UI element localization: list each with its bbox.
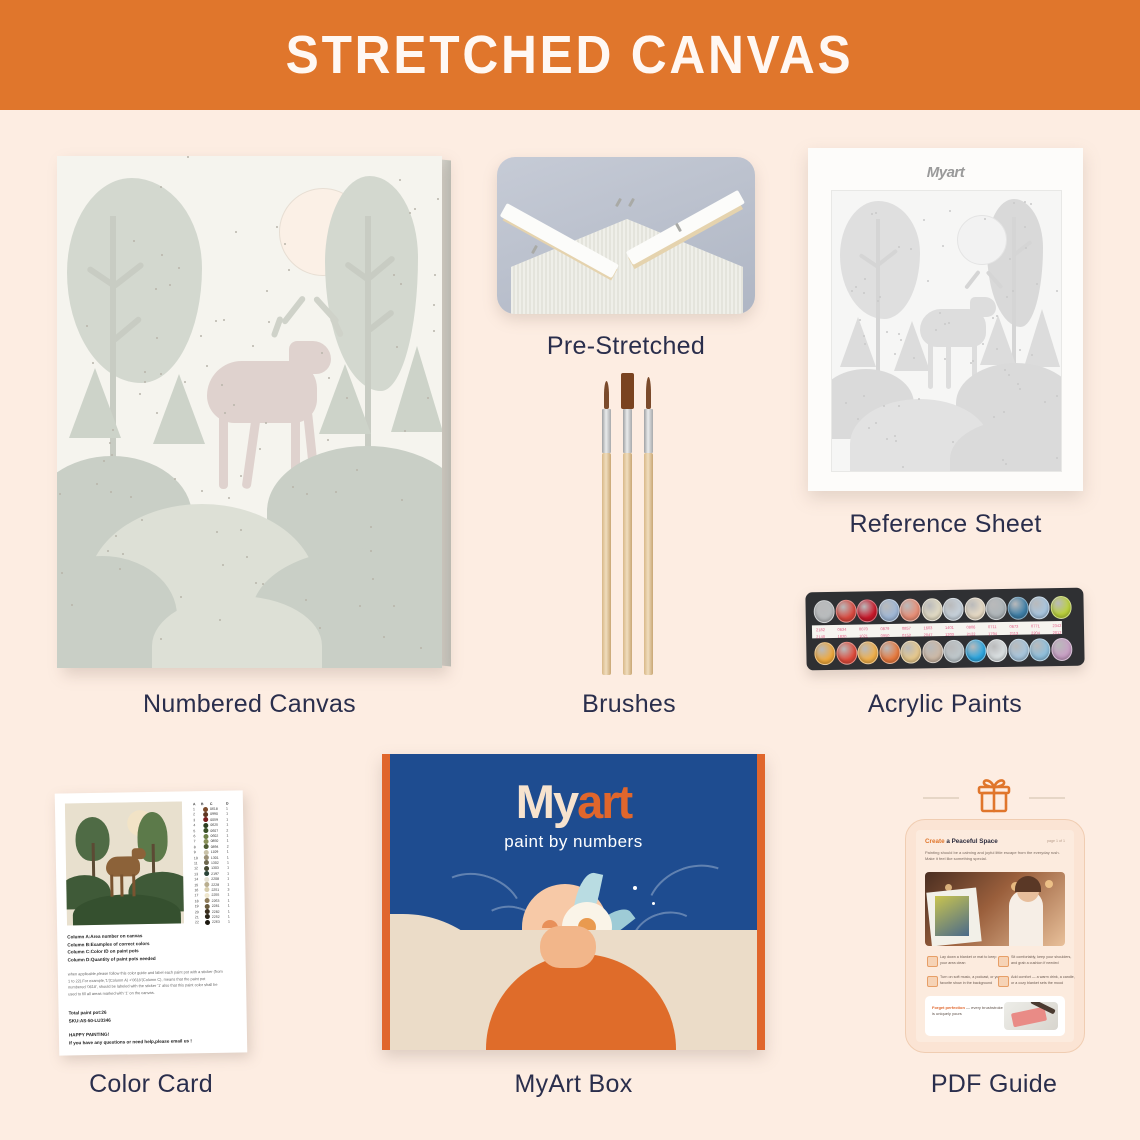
- color-card-image: A B C D 10618120990130059140625150607260…: [55, 790, 248, 1055]
- paint-number-mark: [288, 269, 290, 271]
- paint-number-mark: [178, 267, 180, 269]
- paint-pot-id: 2342: [1052, 623, 1061, 628]
- paint-number-mark: [144, 381, 146, 383]
- reference-sheet-image: Myart: [808, 148, 1083, 491]
- paint-pot: [985, 597, 1006, 620]
- paint-number-mark: [399, 179, 401, 181]
- canvas-face: [57, 156, 442, 668]
- myart-box-image: Myart paint by numbers: [382, 754, 765, 1050]
- color-card-sku: SKU:AS-50-LU3346: [69, 1017, 111, 1025]
- canvas-pine: [319, 364, 371, 434]
- paint-number-mark: [855, 286, 857, 288]
- paint-number-mark: [224, 412, 226, 414]
- paint-pot-id: 2012: [1053, 630, 1062, 635]
- paint-number-mark: [144, 371, 146, 373]
- paint-number-mark: [401, 499, 403, 501]
- paint-number-mark: [923, 219, 925, 221]
- paint-number-mark: [996, 315, 998, 317]
- paint-pot: [856, 599, 877, 622]
- paint-number-mark: [110, 491, 112, 493]
- paint-pot-row-bottom: 2140182010210950015220471203212217942113…: [805, 588, 1083, 593]
- paint-number-mark: [948, 322, 950, 324]
- paint-pot: [813, 600, 834, 623]
- paint-number-mark: [414, 208, 416, 210]
- paint-pot-id: 2122: [967, 631, 976, 636]
- paint-number-mark: [265, 422, 267, 424]
- color-card-legend: Column A:Area number on canvas Column B:…: [67, 932, 156, 964]
- callout-image: [1004, 1002, 1058, 1030]
- paint-number-mark: [233, 404, 235, 406]
- color-card-total: Total paint pot:26: [68, 1009, 106, 1017]
- numbered-canvas-image: [57, 156, 442, 668]
- paint-pot-id: 2204: [1031, 630, 1040, 635]
- paint-number-mark: [111, 454, 113, 456]
- color-card-happy: HAPPY PAINTING!: [69, 1031, 109, 1039]
- paint-pot: [986, 639, 1007, 662]
- ref-moon: [957, 215, 1007, 265]
- paint-number-mark: [944, 323, 946, 325]
- canvas-deer-leg: [219, 411, 228, 489]
- brushes-image: [590, 385, 670, 675]
- paint-number-mark: [306, 493, 308, 495]
- ref-pine: [1024, 309, 1060, 367]
- paint-number-mark: [228, 497, 230, 499]
- paint-number-mark: [404, 430, 406, 432]
- neck-shape: [540, 926, 596, 968]
- paint-pot-id: 2047: [924, 632, 933, 637]
- callout-text: Forget perfection — every brushstroke is…: [932, 1005, 1004, 1017]
- paint-pot-id: 0673: [1009, 624, 1018, 629]
- paint-number-mark: [319, 627, 321, 629]
- paint-number-mark: [1017, 383, 1019, 385]
- cc-deer-head: [132, 848, 146, 859]
- paint-pot: [922, 640, 943, 663]
- tip-icon: [998, 976, 1009, 987]
- color-card-contact: If you have any questions or need help,p…: [69, 1037, 192, 1047]
- paint-pot: [943, 640, 964, 663]
- pdf-guide-card: Create a Peaceful Space page 1 of 1 Pain…: [905, 819, 1085, 1053]
- paint-pot-id: 0879: [880, 626, 889, 631]
- ref-deer-antler: [964, 270, 981, 290]
- paint-number-mark: [427, 397, 429, 399]
- paint-number-mark: [112, 429, 114, 431]
- paint-number-mark: [115, 535, 117, 537]
- paint-pot-id: 1021: [859, 633, 868, 638]
- callout-highlight: Forget perfection: [932, 1005, 965, 1010]
- paint-pot-id: 0806: [966, 624, 975, 629]
- paint-pot: [1029, 638, 1050, 661]
- paint-number-mark: [1013, 202, 1015, 204]
- paint-pot-id: 1794: [988, 631, 997, 636]
- reference-sheet-logo: Myart: [808, 164, 1083, 181]
- paint-number-mark: [107, 550, 109, 552]
- paint-pot-id: 1820: [838, 634, 847, 639]
- tip-text: Lay down a blanket or mat to keep your a…: [940, 955, 1004, 966]
- reference-sheet-artwork: [831, 190, 1062, 472]
- paint-pot-id: 2113: [1010, 631, 1019, 636]
- paint-number-mark: [86, 325, 88, 327]
- pdf-title-rest: a Peaceful Space: [945, 838, 998, 845]
- caption-numbered-canvas: Numbered Canvas: [57, 690, 442, 719]
- paint-pot-id: 0070: [859, 626, 868, 631]
- staple-icon: [615, 198, 622, 207]
- paint-number-mark: [161, 254, 163, 256]
- paint-pot-id: 1203: [945, 632, 954, 637]
- paint-pot: [1007, 597, 1028, 620]
- box-logo: Myart: [390, 774, 757, 829]
- caption-pdf-guide: PDF Guide: [880, 1070, 1108, 1099]
- color-card-table: A B C D 10618120990130059140625150607260…: [193, 800, 239, 925]
- ref-pine: [840, 317, 876, 367]
- cc-deer-leg: [132, 874, 135, 896]
- color-card-paragraph: when applicable,please follow this color…: [68, 969, 223, 998]
- paint-number-mark: [393, 274, 395, 276]
- paint-number-mark: [276, 226, 278, 228]
- paint-number-mark: [1024, 226, 1026, 228]
- tip-text: Add comfort — a warm drink, a candle, or…: [1011, 975, 1075, 986]
- divider-right: [1029, 797, 1065, 799]
- paint-number-mark: [886, 438, 888, 440]
- pre-stretched-image: [497, 157, 755, 314]
- acrylic-paints-image: 2182063400700879085716031401080607110673…: [805, 588, 1084, 671]
- paint-number-mark: [180, 596, 182, 598]
- paint-pot-id: 1603: [923, 625, 932, 630]
- paint-number-mark: [871, 213, 873, 215]
- tip-text: Sit comfortably, keep your shoulders, an…: [1011, 955, 1075, 966]
- pdf-title-highlight: Create: [925, 838, 945, 845]
- paint-number-mark: [383, 636, 385, 638]
- paint-number-mark: [246, 556, 248, 558]
- paint-number-mark: [927, 280, 929, 282]
- sparkle-dot: [652, 902, 655, 905]
- caption-pre-stretched: Pre-Stretched: [497, 332, 755, 361]
- header-banner: STRETCHED CANVAS: [0, 0, 1140, 110]
- paint-number-mark: [305, 599, 307, 601]
- paint-number-mark: [321, 352, 323, 354]
- paint-pot-id: 0857: [902, 626, 911, 631]
- staple-icon: [531, 245, 538, 254]
- canvas-pine: [391, 346, 442, 432]
- paint-pot: [879, 641, 900, 664]
- tip-icon: [927, 956, 938, 967]
- cc-deer-leg: [110, 875, 113, 897]
- page-title: STRETCHED CANVAS: [286, 24, 854, 86]
- pdf-guide-photo: [925, 872, 1065, 946]
- box-logo-art: art: [577, 775, 631, 828]
- paint-label-strip: [812, 621, 1062, 638]
- paint-pot: [899, 598, 920, 621]
- paint-number-mark: [1024, 201, 1026, 203]
- paint-pot-id: 0152: [902, 633, 911, 638]
- canvas-pine: [153, 374, 205, 444]
- paint-number-mark: [370, 526, 372, 528]
- paint-pot: [814, 642, 835, 665]
- paint-number-mark: [982, 343, 984, 345]
- ref-deer-leg: [928, 341, 933, 389]
- paint-number-mark: [898, 333, 900, 335]
- box-tagline: paint by numbers: [390, 832, 757, 852]
- paint-number-mark: [902, 466, 904, 468]
- pdf-page-label: page 1 of 1: [1047, 839, 1065, 843]
- box-front-panel: Myart paint by numbers: [390, 754, 757, 1050]
- paint-pot-id: 0711: [988, 624, 997, 629]
- paint-pot: [965, 639, 986, 662]
- paint-number-mark: [215, 320, 217, 322]
- paint-number-mark: [949, 210, 951, 212]
- paint-pot: [1008, 639, 1029, 662]
- box-logo-my: My: [516, 775, 577, 828]
- paint-pot-id: 0950: [881, 633, 890, 638]
- paint-pot: [1050, 596, 1071, 619]
- pdf-guide-page: Create a Peaceful Space page 1 of 1 Pain…: [916, 830, 1074, 1042]
- caption-color-card: Color Card: [40, 1070, 262, 1099]
- paint-number-mark: [160, 638, 162, 640]
- paint-pot: [942, 598, 963, 621]
- paint-number-mark: [1056, 290, 1058, 292]
- paint-number-mark: [877, 300, 879, 302]
- cc-deer-leg: [120, 874, 123, 896]
- tip-icon: [927, 976, 938, 987]
- paint-number-mark: [863, 395, 865, 397]
- paint-number-mark: [61, 572, 63, 574]
- canvas-depth-edge: [441, 159, 451, 666]
- paint-number-mark: [156, 337, 158, 339]
- paint-number-mark: [335, 491, 337, 493]
- paint-pot: [835, 600, 856, 623]
- paint-number-mark: [1002, 459, 1004, 461]
- paint-pot-id: 1401: [945, 625, 954, 630]
- paint-number-mark: [434, 274, 436, 276]
- paint-number-mark: [868, 427, 870, 429]
- caption-brushes: Brushes: [500, 690, 758, 719]
- pdf-guide-title: Create a Peaceful Space: [925, 838, 998, 845]
- canvas-deer-head: [289, 341, 331, 374]
- paint-number-mark: [122, 553, 124, 555]
- paint-pot: [857, 641, 878, 664]
- paint-number-mark: [59, 493, 61, 495]
- paint-pot: [836, 642, 857, 665]
- paint-number-mark: [972, 360, 974, 362]
- color-card-row: 2222631: [195, 919, 239, 925]
- caption-acrylic-paints: Acrylic Paints: [806, 690, 1084, 719]
- ref-deer-leg: [946, 341, 951, 389]
- paint-number-mark: [201, 490, 203, 492]
- paint-pot-id: 0771: [1031, 623, 1040, 628]
- paint-pot: [900, 640, 921, 663]
- paint-number-mark: [918, 398, 920, 400]
- paint-pot: [1051, 638, 1072, 661]
- ref-deer-head: [970, 297, 996, 317]
- paint-number-mark: [223, 319, 225, 321]
- paint-number-mark: [1006, 296, 1008, 298]
- paint-pot: [964, 597, 985, 620]
- pdf-guide-callout: Forget perfection — every brushstroke is…: [925, 996, 1065, 1036]
- paint-pot-id: 0634: [837, 627, 846, 632]
- paint-number-mark: [1030, 203, 1032, 205]
- canvas-pine: [69, 368, 121, 438]
- pdf-guide-image: Create a Peaceful Space page 1 of 1 Pain…: [905, 775, 1083, 1052]
- paint-number-mark: [996, 348, 998, 350]
- paint-pot: [1028, 596, 1049, 619]
- paint-pot-id: 2140: [816, 634, 825, 639]
- tip-text: Turn on soft music, a podcast, or your f…: [940, 975, 1004, 986]
- paint-pot-row-top: 2182063400700879085716031401080607110673…: [805, 588, 1083, 593]
- paint-number-mark: [1019, 349, 1021, 351]
- paint-number-mark: [103, 460, 105, 462]
- paint-pot: [878, 599, 899, 622]
- sparkle-dot: [633, 886, 637, 890]
- paint-pot: [921, 598, 942, 621]
- box-edge-left: [382, 754, 390, 1050]
- paint-number-mark: [886, 331, 888, 333]
- paint-number-mark: [372, 578, 374, 580]
- paint-number-mark: [864, 343, 866, 345]
- color-card-artwork: [65, 801, 184, 925]
- box-edge-right: [757, 754, 765, 1050]
- paint-number-mark: [141, 519, 143, 521]
- paint-number-mark: [942, 245, 944, 247]
- caption-reference-sheet: Reference Sheet: [808, 510, 1083, 539]
- caption-myart-box: MyArt Box: [382, 1070, 765, 1099]
- pdf-guide-subtitle: Painting should be a calming and joyful …: [925, 850, 1063, 862]
- staple-icon: [628, 198, 635, 207]
- paint-number-mark: [139, 393, 141, 395]
- divider-left: [923, 797, 959, 799]
- paint-pot-id: 2182: [816, 627, 825, 632]
- gift-icon: [973, 777, 1015, 813]
- tip-icon: [998, 956, 1009, 967]
- paint-number-mark: [130, 496, 132, 498]
- paint-number-mark: [910, 248, 912, 250]
